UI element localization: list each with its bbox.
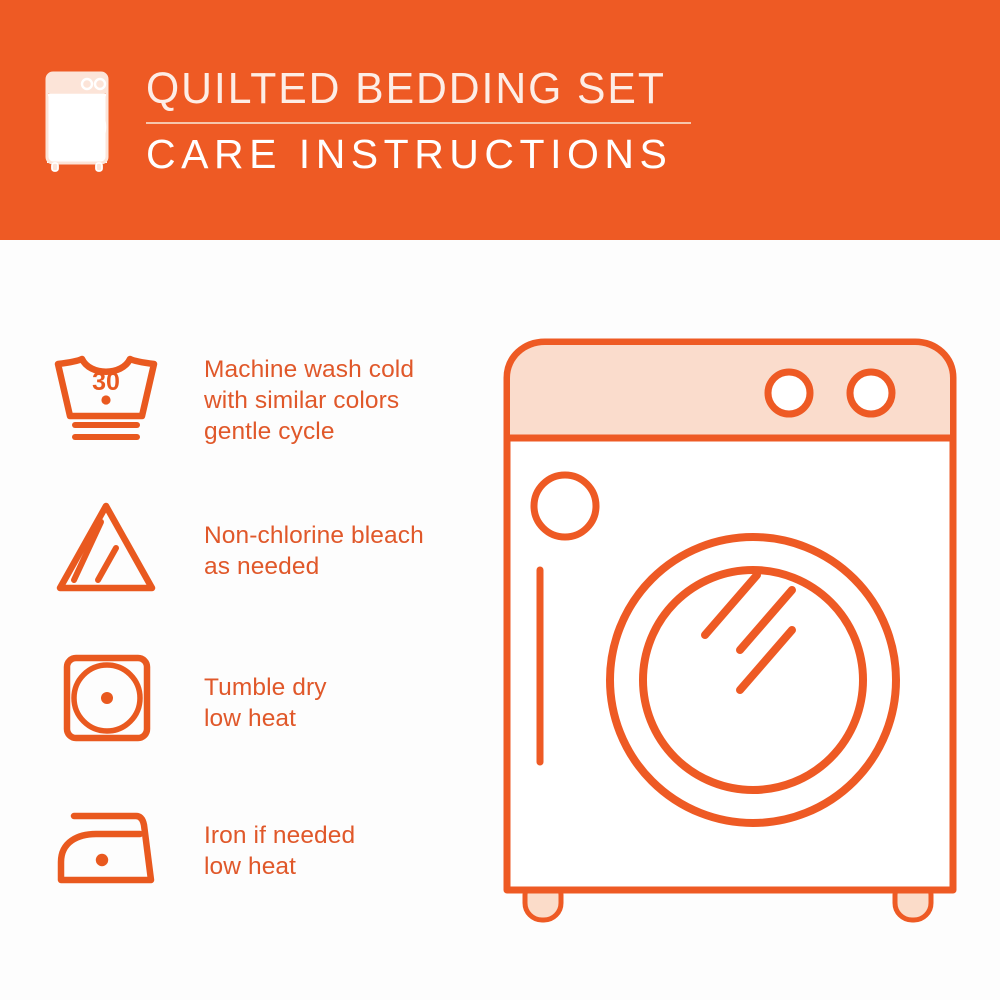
care-instructions-list: 30 Machine wash cold with similar colors… <box>50 344 470 944</box>
care-item-label: Tumble dry low heat <box>204 644 327 734</box>
front-load-washing-machine-illustration <box>495 330 965 930</box>
wash-tub-30-gentle-icon: 30 <box>50 344 162 446</box>
indicator-light <box>534 475 596 537</box>
control-knob-2[interactable] <box>850 372 892 414</box>
non-chlorine-bleach-triangle-icon <box>50 494 162 596</box>
care-item-label: Iron if needed low heat <box>204 794 355 882</box>
header-content: QUILTED BEDDING SET CARE INSTRUCTIONS <box>44 64 691 178</box>
page-subtitle: CARE INSTRUCTIONS <box>146 130 691 178</box>
iron-low-heat-icon <box>50 794 162 896</box>
tumble-dry-low-heat-icon <box>50 644 162 746</box>
control-knob-1[interactable] <box>768 372 810 414</box>
care-item-machine-wash: 30 Machine wash cold with similar colors… <box>50 344 470 494</box>
care-item-label: Non-chlorine bleach as needed <box>204 494 424 582</box>
care-item-iron: Iron if needed low heat <box>50 794 470 944</box>
title-divider <box>146 122 691 124</box>
care-item-bleach: Non-chlorine bleach as needed <box>50 494 470 644</box>
care-item-label: Machine wash cold with similar colors ge… <box>204 344 414 447</box>
header-banner: QUILTED BEDDING SET CARE INSTRUCTIONS <box>0 0 1000 240</box>
page-title: QUILTED BEDDING SET <box>146 64 675 114</box>
svg-text:30: 30 <box>92 368 120 396</box>
header-titles: QUILTED BEDDING SET CARE INSTRUCTIONS <box>146 64 691 178</box>
washing-machine-icon <box>44 70 110 174</box>
care-item-tumble-dry: Tumble dry low heat <box>50 644 470 794</box>
